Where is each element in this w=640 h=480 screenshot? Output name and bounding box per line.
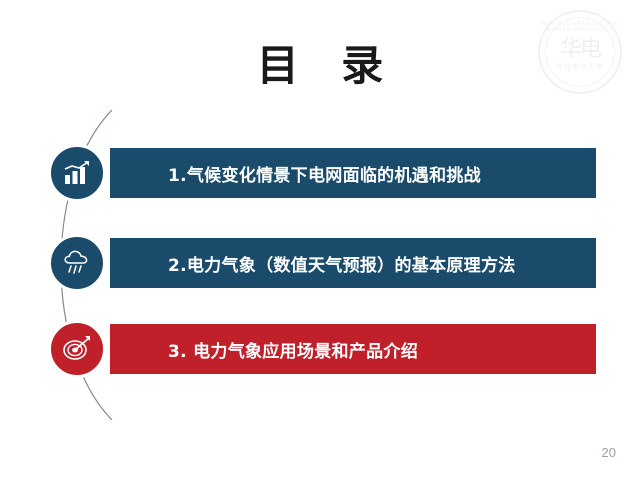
toc-item-2-label: 2.电力气象（数值天气预报）的基本原理方法 [168,251,516,276]
toc-item-3-bar[interactable]: 3. 电力气象应用场景和产品介绍 [110,324,596,374]
toc-item-1[interactable]: 1.气候变化情景下电网面临的机遇和挑战 [48,144,596,202]
toc-item-2-bar[interactable]: 2.电力气象（数值天气预报）的基本原理方法 [110,238,596,288]
target-dart-icon [48,320,106,378]
rain-cloud-icon [48,234,106,292]
page-number: 20 [602,445,616,460]
toc-item-3-label: 3. 电力气象应用场景和产品介绍 [168,337,418,362]
page-title: 目 录 [0,32,640,93]
toc-item-1-bar[interactable]: 1.气候变化情景下电网面临的机遇和挑战 [110,148,596,198]
slide-canvas: NORTH CHINA ELECTRIC POWER UNIVERSITY 华电… [0,0,640,480]
toc-item-2[interactable]: 2.电力气象（数值天气预报）的基本原理方法 [48,234,596,292]
toc-item-3[interactable]: 3. 电力气象应用场景和产品介绍 [48,320,596,378]
bar-chart-growth-icon [48,144,106,202]
toc-item-1-label: 1.气候变化情景下电网面临的机遇和挑战 [168,161,481,186]
